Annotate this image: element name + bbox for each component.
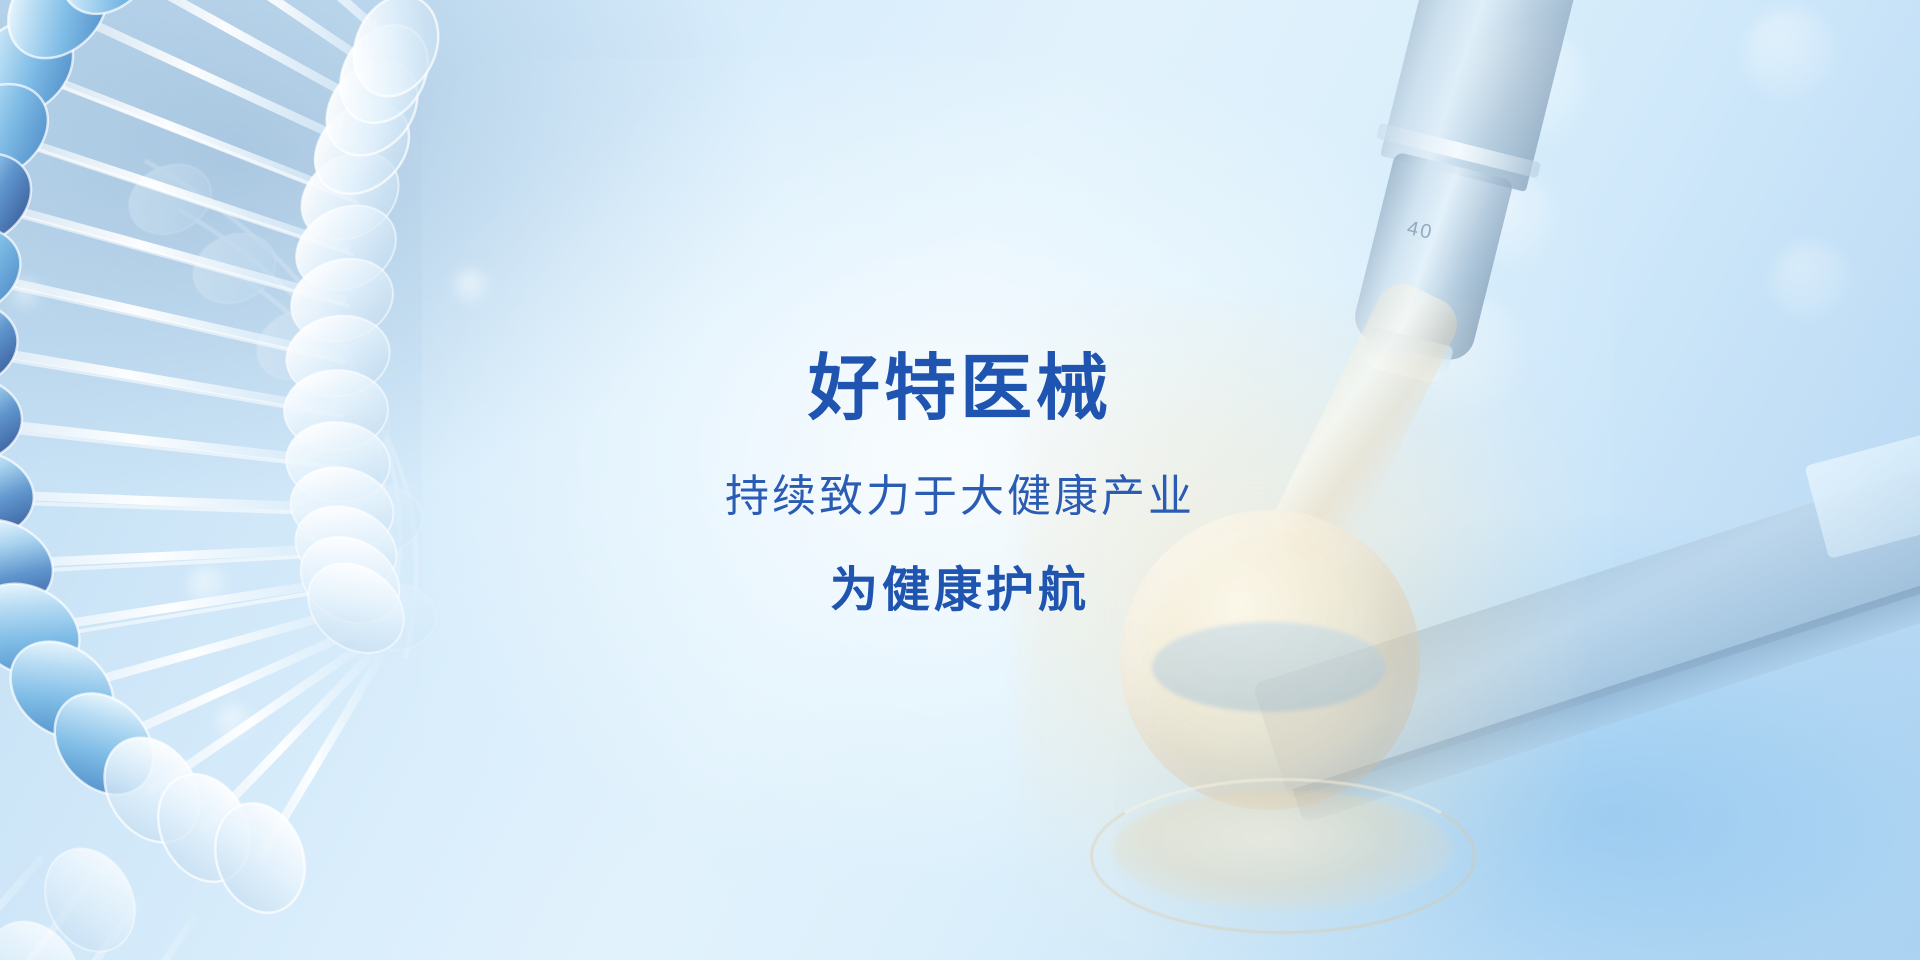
bokeh-light-circle [1772,242,1850,320]
bokeh-light-circle [1744,8,1836,100]
bokeh-light-circle [1462,172,1558,268]
hero-banner: 40 好特医械 持续致力于大健康产业 为健康护航 [0,0,1920,960]
flask-liquid-meniscus [1152,622,1386,712]
bokeh-light-circle [216,704,252,740]
bokeh-light-circle [370,120,396,146]
hero-text-block: 好特医械 持续致力于大健康产业 为健康护航 [0,352,1920,618]
page-title: 好特医械 [0,352,1920,427]
microscope-barrel [1380,0,1598,192]
bokeh-light-circle [1468,26,1588,146]
microscope-magnification-label: 40 [1405,217,1435,245]
page-subtitle: 持续致力于大健康产业 [0,473,1920,521]
bokeh-light-circle [12,280,42,310]
page-tagline: 为健康护航 [0,565,1920,618]
petri-dish-rim [1090,778,1476,934]
microscope-lens-housing [1350,151,1514,365]
petri-dish-pool [1112,790,1452,910]
microscope-ring [1376,123,1541,179]
bokeh-light-circle [455,270,489,304]
